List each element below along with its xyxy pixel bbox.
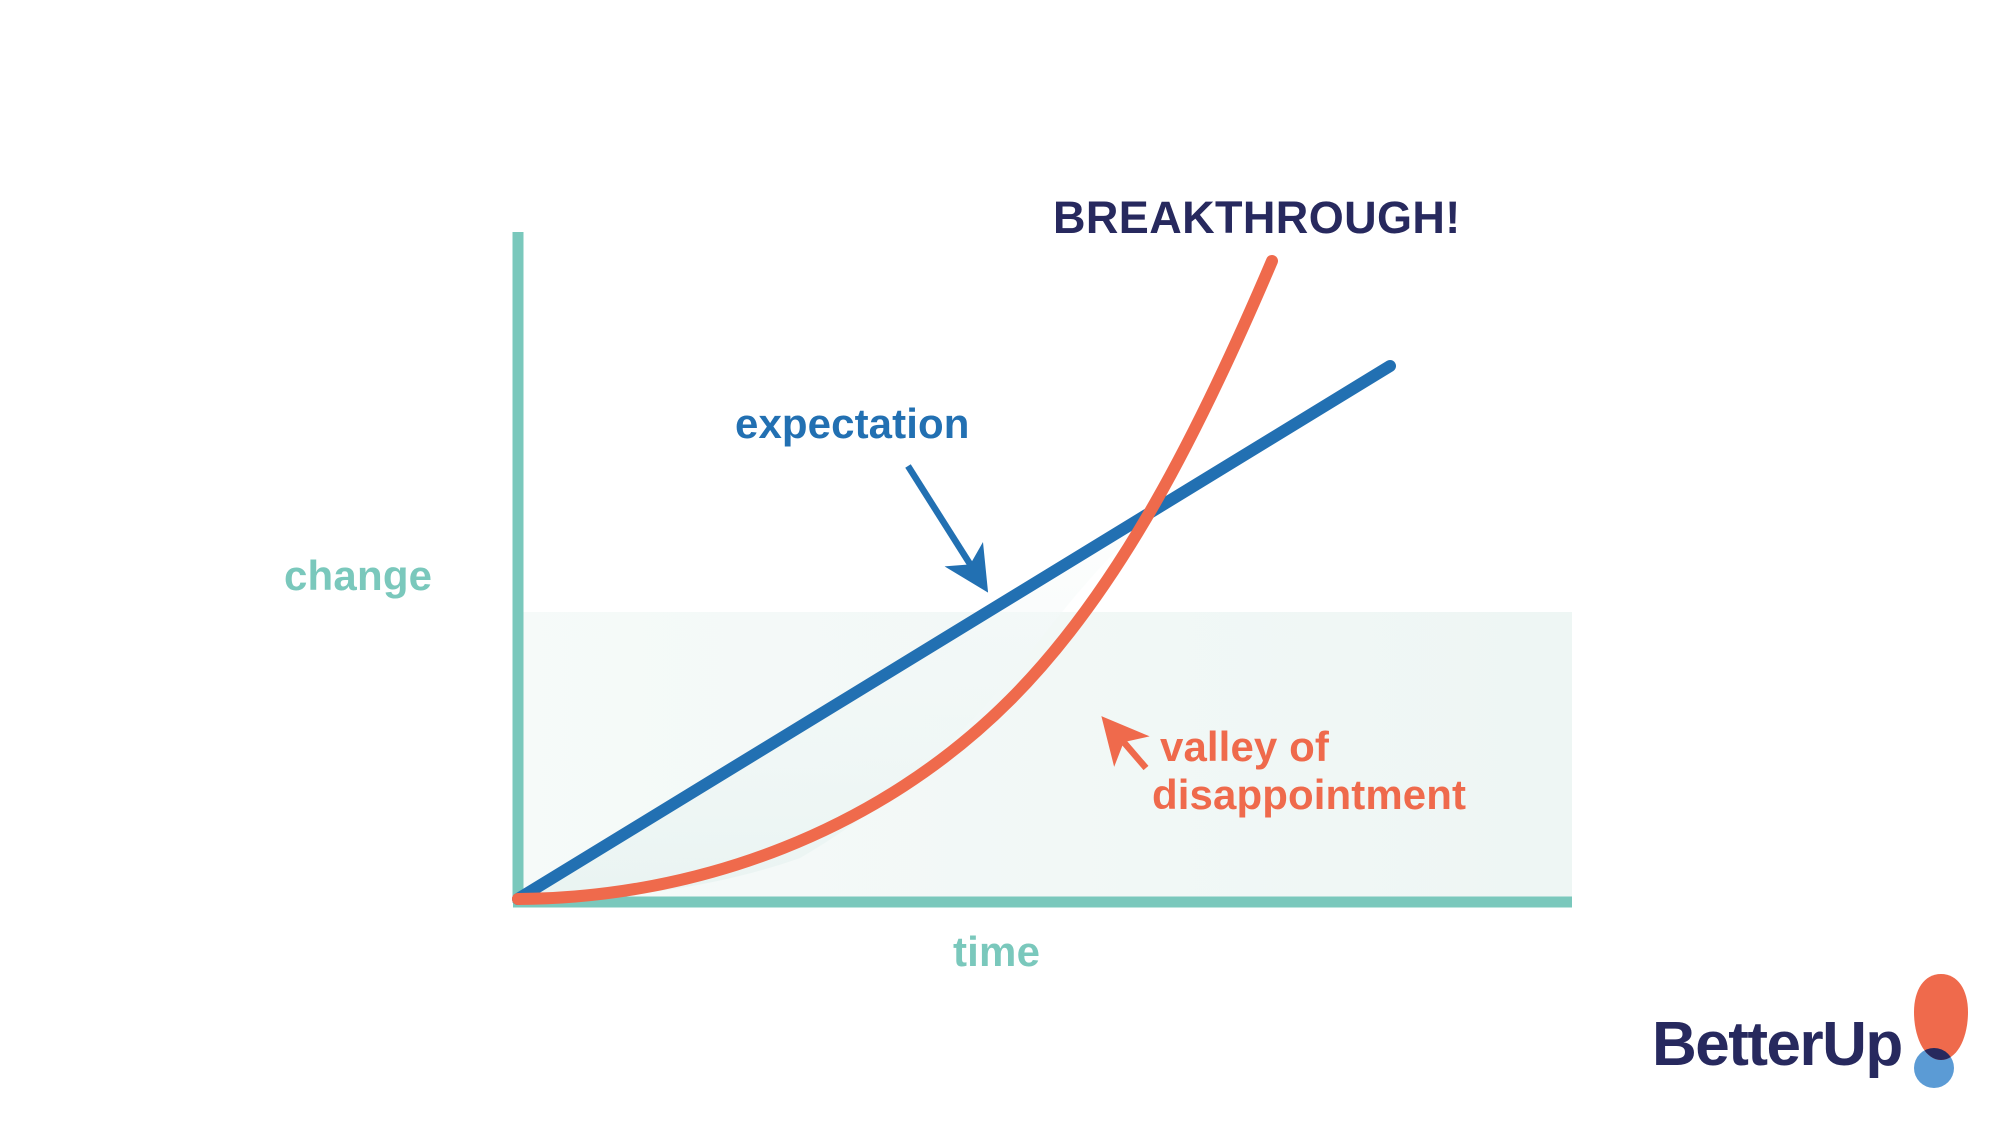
valley-annotation-line-2: disappointment bbox=[1152, 771, 1466, 819]
x-axis-label: time bbox=[953, 928, 1040, 976]
expectation-annotation-label: expectation bbox=[735, 400, 970, 448]
figure-canvas: change time expectation BREAKTHROUGH! va… bbox=[0, 0, 1999, 1143]
betterup-wordmark: BetterUp bbox=[1652, 1014, 1902, 1076]
breakthrough-annotation-label: BREAKTHROUGH! bbox=[1053, 192, 1461, 243]
expectation-arrow bbox=[908, 466, 982, 583]
valley-annotation-line-1: valley of bbox=[1160, 723, 1466, 771]
valley-annotation-label: valley of disappointment bbox=[1160, 723, 1466, 819]
betterup-logo: BetterUp bbox=[1652, 972, 1972, 1102]
y-axis-label: change bbox=[284, 552, 432, 600]
betterup-logomark-icon bbox=[1910, 972, 1972, 1090]
